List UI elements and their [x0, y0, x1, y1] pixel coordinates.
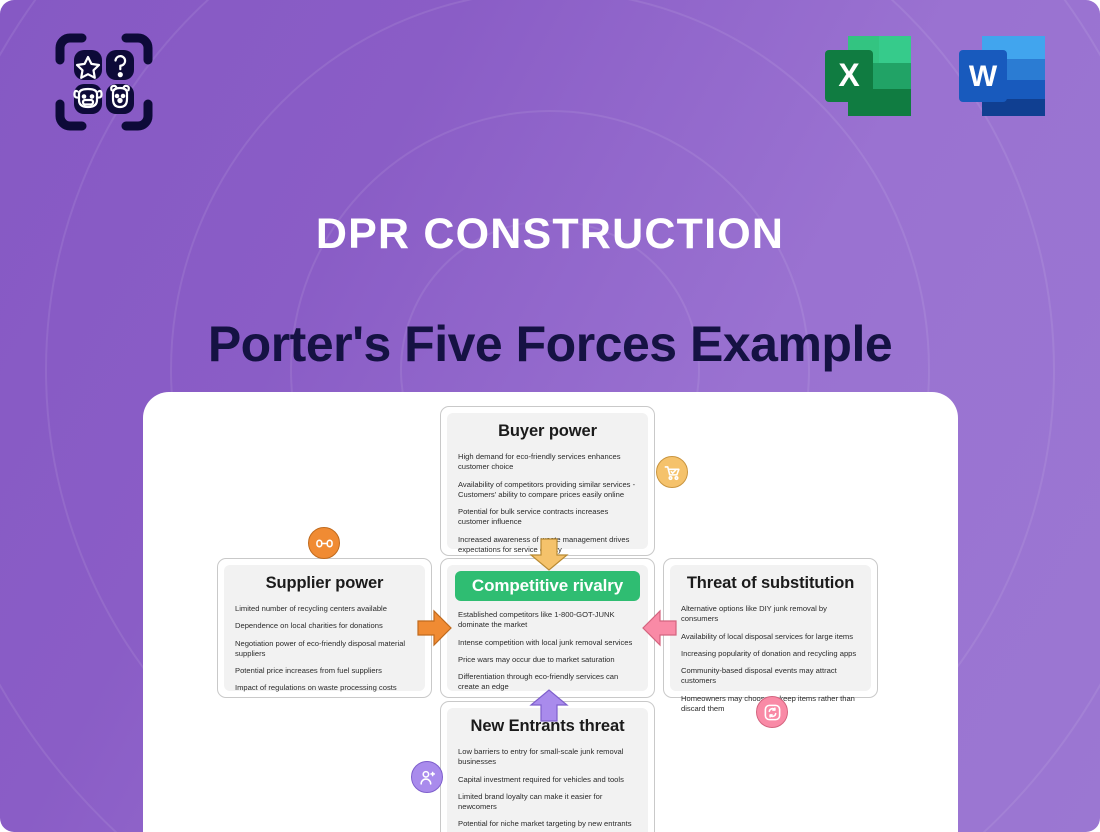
svg-text:W: W — [969, 60, 998, 93]
brand-title: DPR CONSTRUCTION — [0, 210, 1100, 259]
force-list-new-entrants-threat: Low barriers to entry for small-scale ju… — [458, 747, 637, 832]
force-title-buyer-power: Buyer power — [458, 422, 637, 441]
force-box-buyer-power[interactable]: Buyer power High demand for eco-friendly… — [440, 406, 655, 556]
badge-buyer-power[interactable] — [656, 456, 688, 488]
porters-five-forces-diagram: Buyer power High demand for eco-friendly… — [143, 392, 958, 832]
question-dot — [119, 73, 122, 76]
force-title-competitive-rivalry: Competitive rivalry — [455, 571, 640, 601]
force-item: Low barriers to entry for small-scale ju… — [458, 747, 637, 768]
force-box-supplier-power[interactable]: Supplier power Limited number of recycli… — [217, 558, 432, 698]
poster-root: X W DPR CONSTRUCTION Porter's Five Force… — [0, 0, 1100, 832]
force-item: Alternative options like DIY junk remova… — [681, 604, 860, 625]
force-item: Availability of competitors providing si… — [458, 480, 637, 501]
badge-threat-of-substitution[interactable] — [756, 696, 788, 728]
arrow-entrants-to-rivalry — [528, 688, 570, 722]
office-icons-group: X W — [818, 28, 1052, 124]
force-item: Limited brand loyalty can make it easier… — [458, 792, 637, 813]
excel-icon[interactable]: X — [818, 28, 918, 124]
shopping-cart-icon — [663, 463, 682, 482]
force-item: Potential for bulk service contracts inc… — [458, 507, 637, 528]
force-item: Potential price increases from fuel supp… — [235, 666, 414, 676]
force-item: Price wars may occur due to market satur… — [458, 655, 637, 665]
force-item: Availability of local disposal services … — [681, 632, 860, 642]
svg-text:X: X — [838, 57, 860, 93]
force-item: Community-based disposal events may attr… — [681, 666, 860, 687]
arrow-substitution-to-rivalry — [641, 607, 677, 649]
arrow-buyer-to-rivalry — [528, 538, 570, 572]
force-item: Impact of regulations on waste processin… — [235, 683, 414, 693]
app-logo[interactable] — [48, 26, 160, 138]
force-item: Negotiation power of eco-friendly dispos… — [235, 639, 414, 660]
word-icon[interactable]: W — [952, 28, 1052, 124]
force-item: Established competitors like 1-800-GOT-J… — [458, 610, 637, 631]
badge-supplier-power[interactable] — [308, 527, 340, 559]
force-item: Dependence on local charities for donati… — [235, 621, 414, 631]
force-title-threat-of-substitution: Threat of substitution — [681, 574, 860, 593]
refresh-sync-icon — [763, 703, 782, 722]
force-item: Intense competition with local junk remo… — [458, 638, 637, 648]
force-item: Increasing popularity of donation and re… — [681, 649, 860, 659]
badge-new-entrants-threat[interactable] — [411, 761, 443, 793]
force-title-supplier-power: Supplier power — [235, 574, 414, 593]
link-chain-icon — [315, 534, 334, 553]
force-item: High demand for eco-friendly services en… — [458, 452, 637, 473]
arrow-supplier-to-rivalry — [417, 607, 453, 649]
force-item: Limited number of recycling centers avai… — [235, 604, 414, 614]
force-box-threat-of-substitution[interactable]: Threat of substitution Alternative optio… — [663, 558, 878, 698]
diagram-card: Buyer power High demand for eco-friendly… — [143, 392, 958, 832]
force-item: Potential for niche market targeting by … — [458, 819, 637, 829]
force-item: Capital investment required for vehicles… — [458, 775, 637, 785]
add-user-icon — [418, 768, 437, 787]
force-list-supplier-power: Limited number of recycling centers avai… — [235, 604, 414, 694]
force-box-competitive-rivalry[interactable]: Competitive rivalry Established competit… — [440, 558, 655, 698]
page-title: Porter's Five Forces Example — [0, 315, 1100, 373]
